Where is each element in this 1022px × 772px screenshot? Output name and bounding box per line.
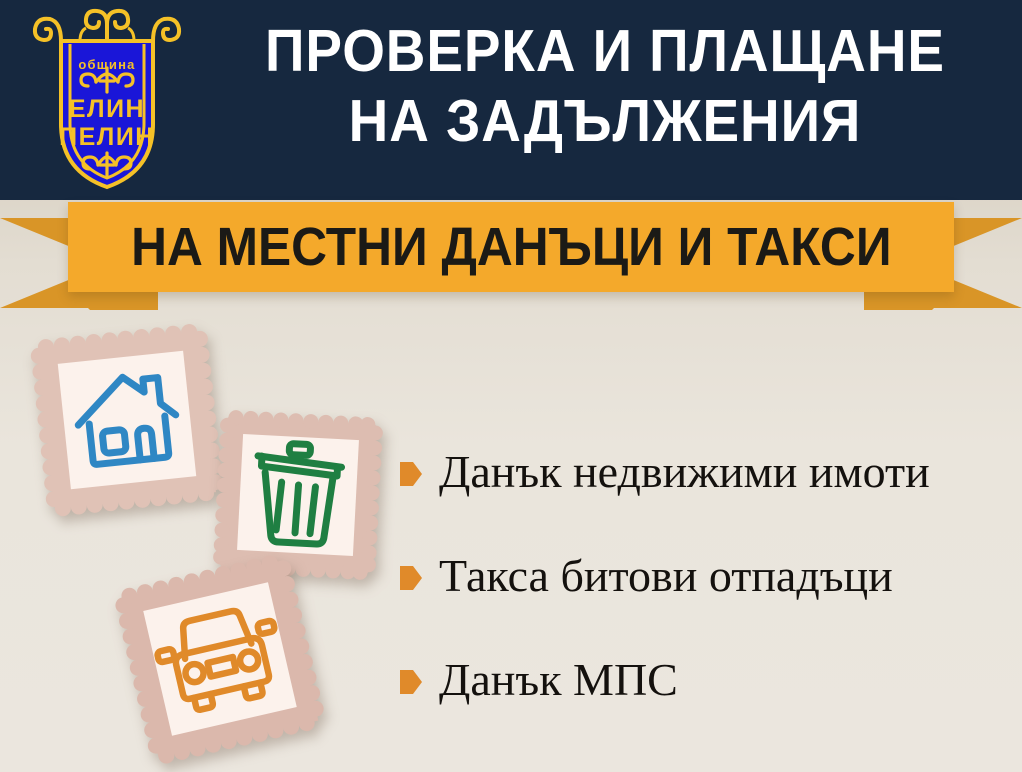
arrow-bullet-icon [400, 565, 422, 591]
poster-canvas: община ЕЛИН ПЕЛИН [0, 0, 1022, 772]
ribbon-band: НА МЕСТНИ ДАНЪЦИ И ТАКСИ [68, 202, 954, 292]
tax-types-list: Данък недвижими имоти Такса битови отпад… [400, 420, 1010, 732]
page-title-line-2: НА ЗАДЪЛЖЕНИЯ [224, 86, 987, 156]
header-banner: община ЕЛИН ПЕЛИН [0, 0, 1022, 200]
ribbon-subtitle-text: НА МЕСТНИ ДАНЪЦИ И ТАКСИ [131, 219, 891, 275]
stamp-vehicle-graphic [104, 543, 336, 772]
header-title-block: ПРОВЕРКА И ПЛАЩАНЕ НА ЗАДЪЛЖЕНИЯ [195, 16, 1015, 156]
page-title-line-1: ПРОВЕРКА И ПЛАЩАНЕ [224, 16, 987, 86]
logo-line1-text: ЕЛИН [69, 95, 145, 123]
list-item-label: Данък недвижими имоти [439, 446, 930, 498]
coat-of-arms-icon: община ЕЛИН ПЕЛИН [20, 6, 195, 196]
arrow-bullet-icon [400, 461, 422, 487]
logo-line2-text: ПЕЛИН [59, 123, 155, 151]
list-item[interactable]: Такса битови отпадъци [400, 524, 1010, 628]
stamp-cards-group [0, 295, 420, 772]
list-item-label: Такса битови отпадъци [439, 550, 893, 602]
list-item[interactable]: Данък МПС [400, 628, 1010, 732]
municipality-logo: община ЕЛИН ПЕЛИН [20, 6, 195, 196]
stamp-card-vehicle [104, 543, 336, 772]
subtitle-ribbon: НА МЕСТНИ ДАНЪЦИ И ТАКСИ [0, 196, 1022, 311]
list-item[interactable]: Данък недвижими имоти [400, 420, 1010, 524]
arrow-bullet-icon [400, 669, 422, 695]
list-item-label: Данък МПС [439, 654, 678, 706]
